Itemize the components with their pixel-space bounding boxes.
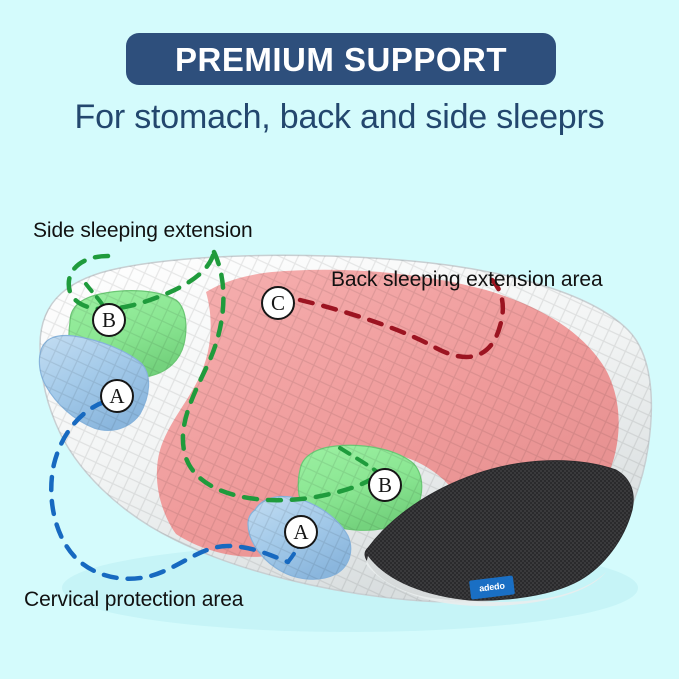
marker-a-bottom: A [284, 515, 318, 549]
callout-label-cervical-protection-area: Cervical protection area [24, 588, 243, 612]
pillow-illustration [0, 0, 679, 679]
marker-a-top: A [100, 379, 134, 413]
marker-b-bottom: B [368, 468, 402, 502]
callout-label-side-sleeping-extension: Side sleeping extension [33, 219, 253, 243]
marker-b-top: B [92, 303, 126, 337]
callout-label-back-sleeping-extension-area: Back sleeping extension area [331, 268, 603, 292]
infographic-canvas: PREMIUM SUPPORT For stomach, back and si… [0, 0, 679, 679]
brand-tag-label: adedo [479, 581, 505, 593]
marker-c: C [261, 286, 295, 320]
